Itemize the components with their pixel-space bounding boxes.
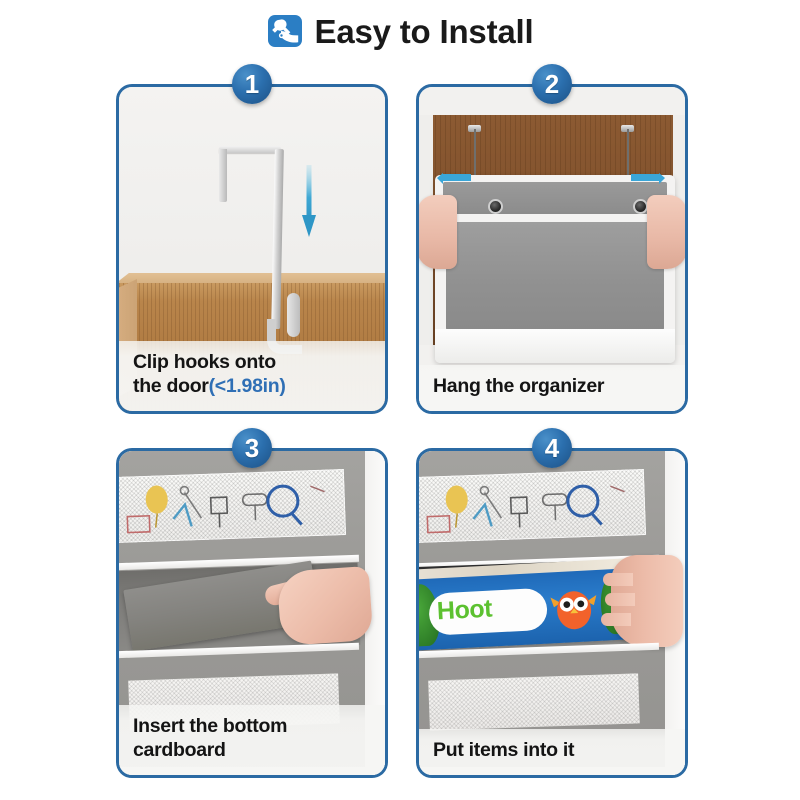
wrench-hand-icon bbox=[267, 14, 303, 48]
step-panel-1[interactable]: Clip hooks onto the door(<1.98in) bbox=[116, 84, 388, 414]
page-header: Easy to Install bbox=[0, 0, 800, 62]
mesh-pocket-top bbox=[119, 469, 346, 543]
step-4-illustration: Hoot bbox=[419, 451, 685, 775]
step-3-caption: Insert the bottom cardboard bbox=[119, 705, 385, 775]
printed-doodles bbox=[119, 469, 346, 543]
hanging-organizer bbox=[435, 175, 675, 363]
step-badge-3-number: 3 bbox=[245, 435, 259, 461]
owl-icon bbox=[550, 585, 598, 631]
step-1-caption-line2: the door bbox=[133, 375, 209, 397]
down-arrow-icon bbox=[302, 165, 316, 237]
step-2-caption-text: Hang the organizer bbox=[433, 375, 671, 399]
hook-back-leg bbox=[219, 149, 227, 202]
step-badge-4-number: 4 bbox=[545, 435, 559, 461]
step-3-caption-line2: cardboard bbox=[133, 739, 226, 761]
step-badge-3: 3 bbox=[232, 428, 272, 468]
step-1-caption-accent: (<1.98in) bbox=[209, 375, 286, 397]
step-1-caption-line1: Clip hooks onto bbox=[133, 351, 276, 373]
step-panel-2[interactable]: Hang the organizer bbox=[416, 84, 688, 414]
finger-1 bbox=[603, 573, 633, 586]
step-badge-4: 4 bbox=[532, 428, 572, 468]
finger-3 bbox=[601, 613, 631, 626]
hook-shank-left bbox=[474, 129, 476, 179]
grommet-left bbox=[488, 199, 503, 214]
step-badge-2: 2 bbox=[532, 64, 572, 104]
step-badge-2-number: 2 bbox=[545, 71, 559, 97]
step-2-illustration bbox=[419, 87, 685, 411]
left-hand bbox=[419, 195, 457, 269]
step-panel-4[interactable]: Hoot Put items into it bbox=[416, 448, 688, 778]
step-4-caption-text: Put items into it bbox=[433, 739, 671, 763]
finger-2 bbox=[605, 593, 635, 606]
mesh-pocket-top bbox=[419, 469, 646, 543]
page-title: Easy to Install bbox=[315, 15, 534, 48]
step-badge-1: 1 bbox=[232, 64, 272, 104]
grommet-right bbox=[633, 199, 648, 214]
organizer-main-pocket bbox=[446, 222, 664, 330]
hand-inserting-cardboard bbox=[277, 566, 374, 646]
mesh-pocket-bottom bbox=[428, 673, 640, 730]
game-box: Hoot bbox=[419, 567, 631, 650]
organizer-top-panel bbox=[443, 182, 667, 214]
step-4-caption: Put items into it bbox=[419, 729, 685, 775]
organizer-white-base bbox=[435, 329, 675, 363]
hook-lip bbox=[287, 293, 300, 337]
printed-doodles bbox=[419, 469, 646, 543]
step-2-caption: Hang the organizer bbox=[419, 365, 685, 411]
hook-shank-right bbox=[627, 129, 629, 179]
right-arrow-icon bbox=[631, 173, 665, 185]
step-badge-1-number: 1 bbox=[245, 71, 259, 97]
step-panel-3[interactable]: Insert the bottom cardboard bbox=[116, 448, 388, 778]
steps-grid: Clip hooks onto the door(<1.98in) bbox=[116, 84, 688, 778]
left-arrow-icon bbox=[437, 173, 471, 185]
right-hand bbox=[647, 195, 685, 269]
step-1-caption: Clip hooks onto the door(<1.98in) bbox=[119, 341, 385, 411]
step-3-caption-line1: Insert the bottom bbox=[133, 715, 287, 737]
hook-top-bar bbox=[219, 146, 281, 153]
